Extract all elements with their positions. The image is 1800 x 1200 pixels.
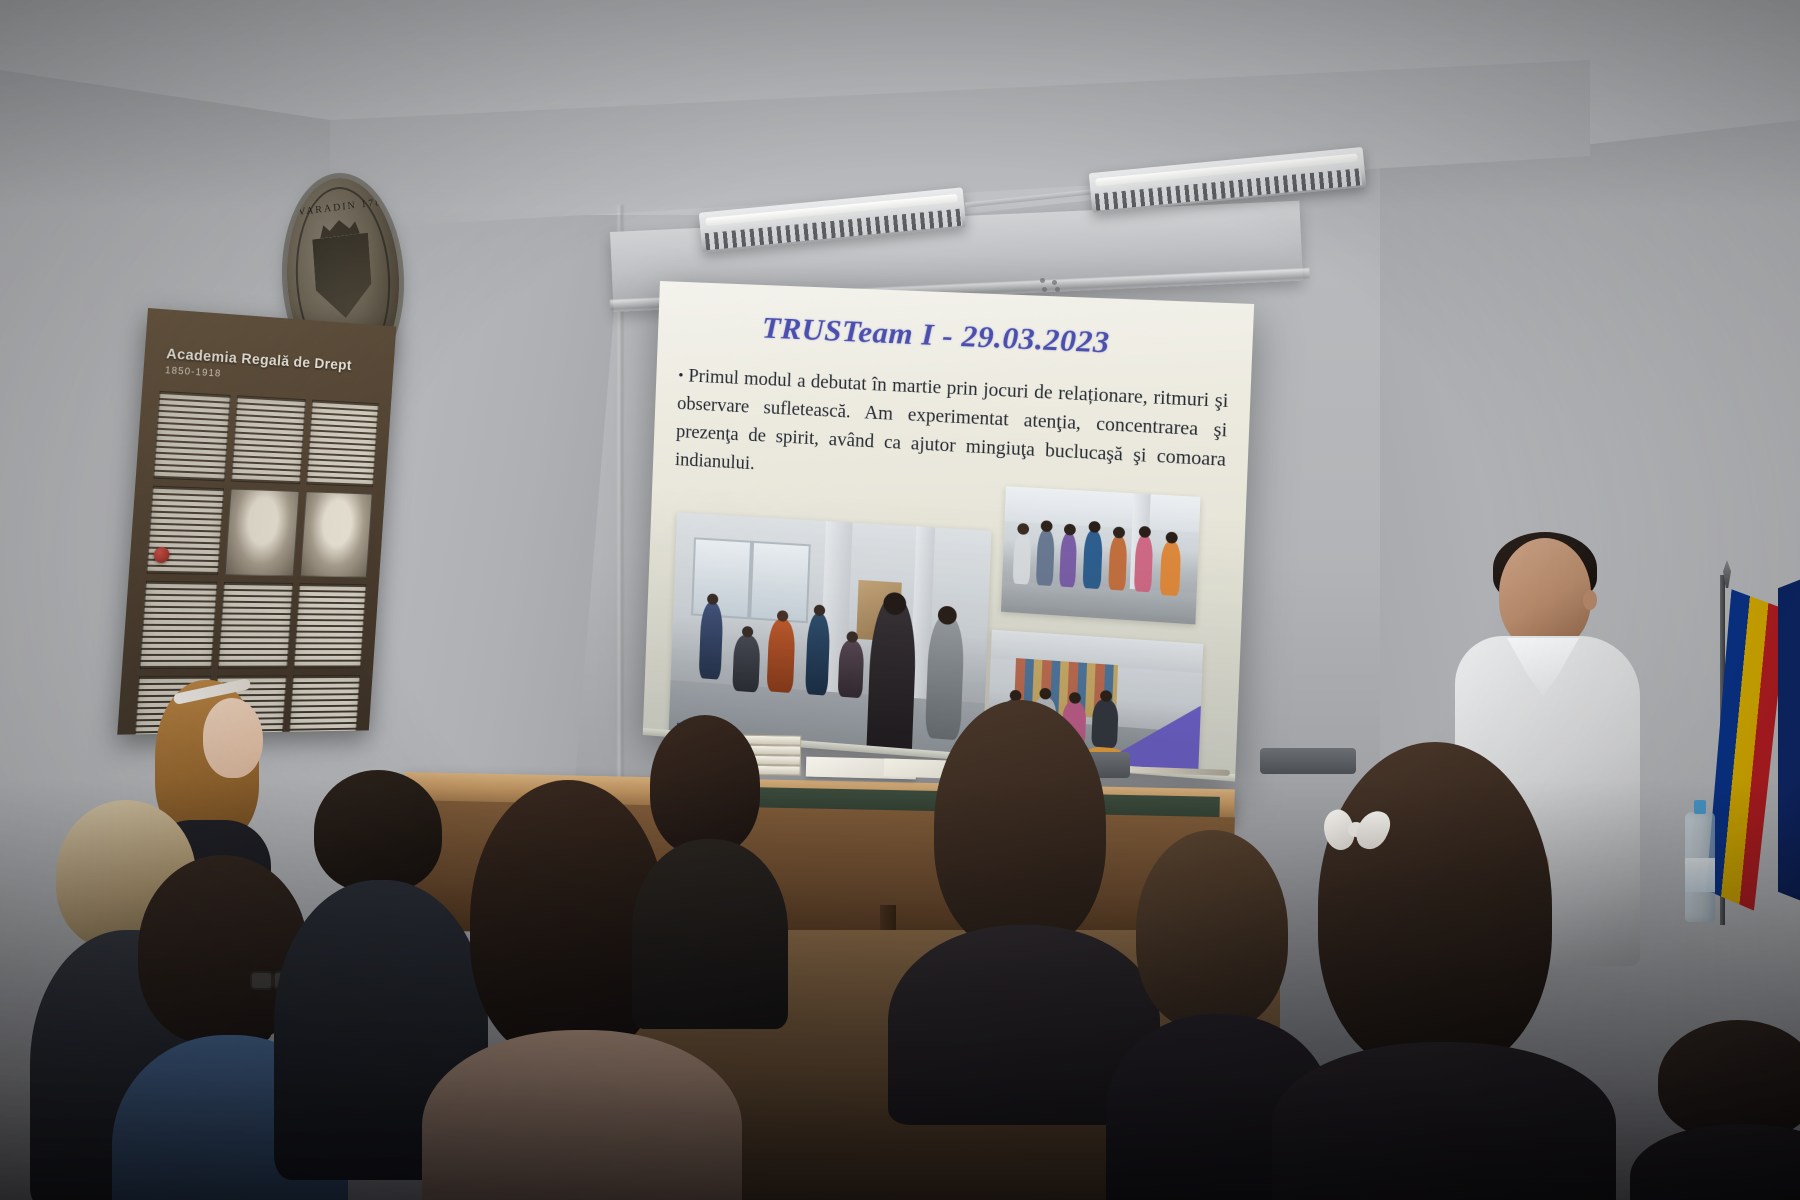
face — [1499, 538, 1591, 650]
hair — [1136, 830, 1288, 1030]
poster-document — [231, 395, 306, 484]
photo-person — [1036, 529, 1055, 586]
shoulders — [1630, 1124, 1800, 1200]
audience-white-bow — [1290, 742, 1590, 1200]
photo-person-orange — [767, 619, 796, 693]
slide-paragraph: Primul modul a debutat în martie prin jo… — [675, 366, 1229, 474]
hair — [1658, 1020, 1800, 1140]
poster-document — [153, 391, 230, 481]
photo-person — [1108, 536, 1127, 591]
ear — [1583, 590, 1597, 610]
lecture-hall-photo: VARADIN 1780 Academia Regală de Drept 18… — [0, 0, 1800, 1200]
smoke-detector-icon — [1040, 278, 1066, 292]
photo-person-crouching — [838, 640, 865, 699]
poster-document — [140, 581, 218, 669]
hair-bow — [1326, 804, 1386, 858]
photo-person — [1134, 535, 1153, 592]
photo-person — [1160, 541, 1182, 596]
audience-dark-hair-small — [640, 715, 770, 1015]
wall-poster-academia: Academia Regală de Drept 1850-1918 — [117, 308, 396, 735]
photo-person — [1013, 532, 1032, 585]
bottle-label — [1685, 858, 1715, 892]
poster-document — [294, 583, 367, 668]
shoulders — [422, 1030, 742, 1200]
hair — [934, 700, 1106, 950]
photo-person — [805, 613, 831, 696]
photo-person — [1083, 530, 1103, 589]
hair — [650, 715, 760, 855]
poster-document — [287, 675, 360, 735]
poster-document — [218, 582, 293, 669]
audience-far-right — [1640, 1020, 1800, 1200]
eu-flag — [1778, 575, 1800, 905]
poster-document-grid — [136, 391, 379, 721]
hair — [314, 770, 442, 892]
poster-portrait — [225, 488, 300, 576]
shoulders — [632, 839, 788, 1029]
photo-top-right-group — [1001, 486, 1201, 624]
face — [203, 698, 263, 778]
hair — [1318, 742, 1552, 1072]
poster-document — [306, 400, 378, 487]
water-bottle — [1685, 812, 1715, 922]
poster-portrait — [300, 491, 372, 577]
photo-person — [1059, 533, 1077, 588]
poster-years: 1850-1918 — [165, 365, 222, 379]
audience-brown-hair-right-center — [900, 700, 1140, 1120]
photo-person — [699, 602, 724, 680]
bullet-icon: • — [678, 368, 684, 384]
shoulders — [1272, 1042, 1616, 1200]
photo-person-crouching — [732, 634, 760, 692]
window-pane — [691, 537, 752, 619]
slide-title: TRUSTeam I - 29.03.2023 — [658, 307, 1223, 366]
